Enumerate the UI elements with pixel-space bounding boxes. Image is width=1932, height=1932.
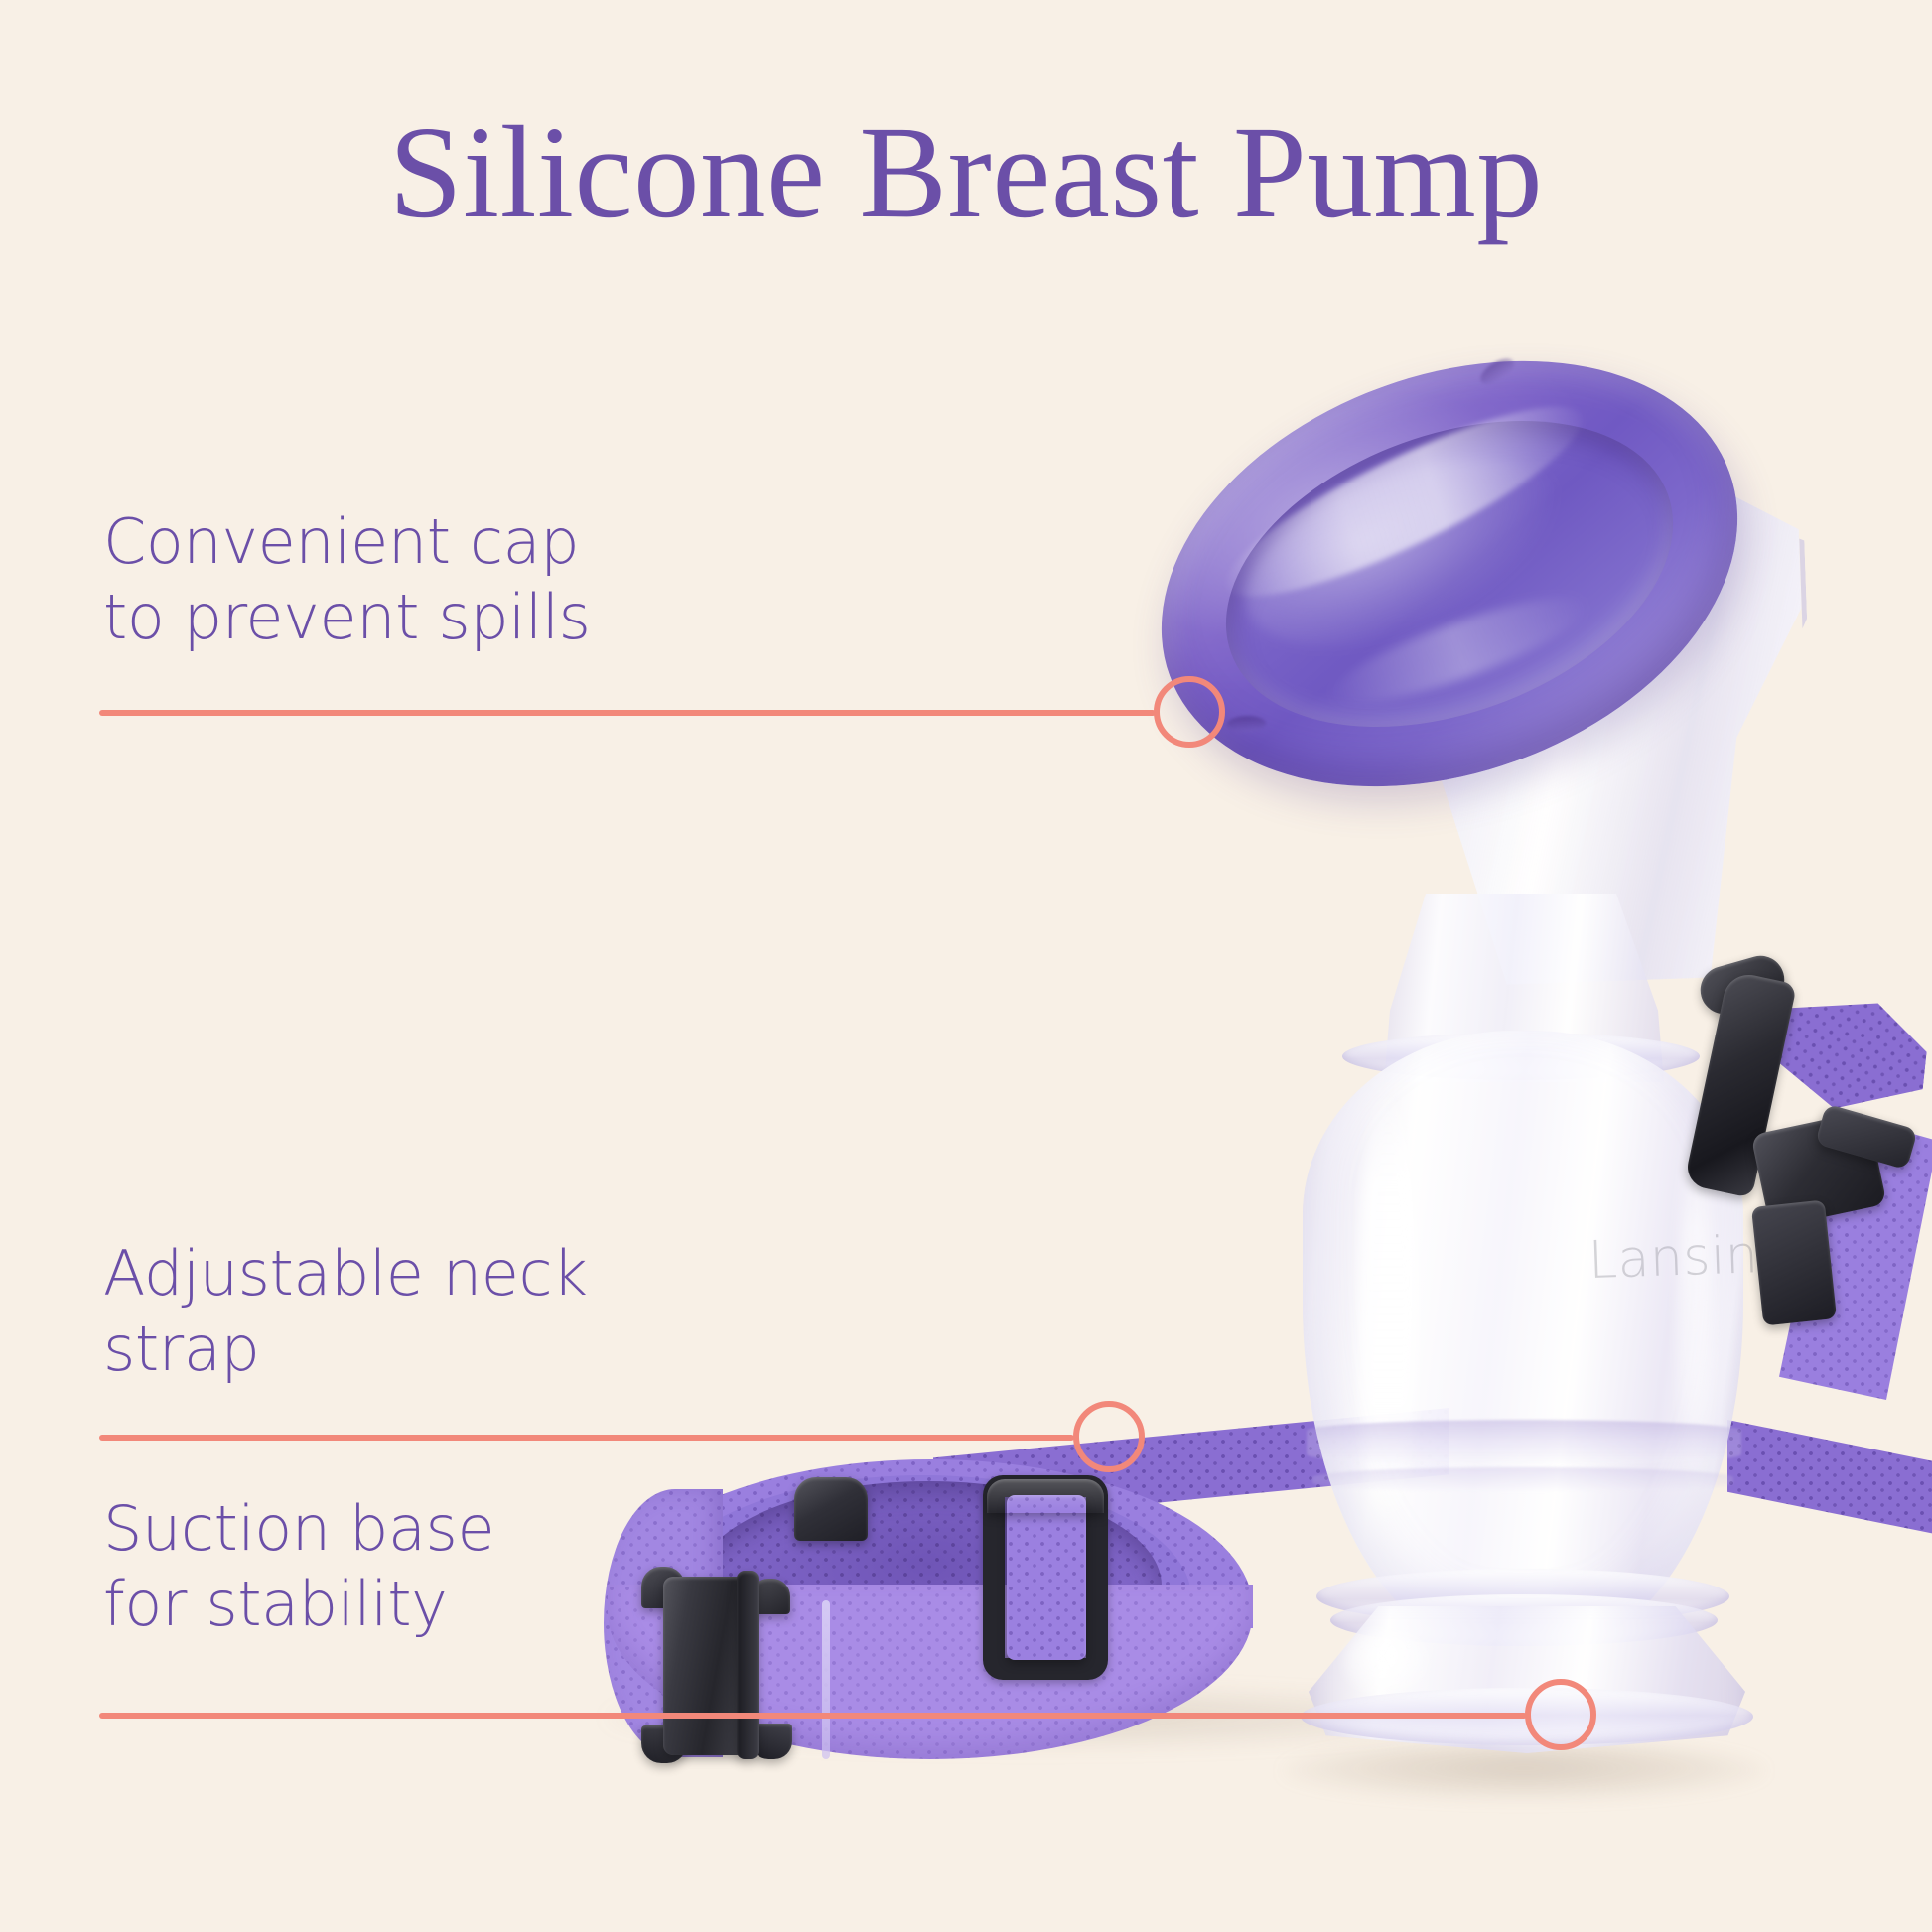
strap-coil-cavity-texture	[695, 1481, 1162, 1690]
pump-neck	[1372, 894, 1670, 1082]
callout-marker-convenient-cap	[1154, 676, 1225, 748]
suction-base	[1309, 1606, 1745, 1753]
neck-clip-top	[1695, 950, 1790, 1020]
neck-strap-buckle-lower	[1751, 1199, 1837, 1325]
body-ring-2	[1330, 1594, 1718, 1646]
strap-coil-front-face	[608, 1585, 1253, 1759]
neck-strap-buckle	[1750, 1111, 1886, 1229]
strap-through-keeper	[1007, 1495, 1086, 1660]
callout-leader-line-suction-base	[99, 1713, 1527, 1719]
pump-funnel-edge	[1299, 418, 1819, 991]
pump-neck-band	[1342, 1033, 1700, 1080]
cap-highlight-primary	[1208, 376, 1599, 627]
body-graduation-band	[1307, 1420, 1741, 1465]
callout-marker-suction-base	[1525, 1679, 1596, 1750]
strap-tab-upper	[794, 1477, 868, 1541]
callout-leader-line-convenient-cap	[99, 710, 1156, 716]
callout-label-adjustable-neck-strap: Adjustable neck strap	[103, 1236, 588, 1386]
strap-segment-left-band	[933, 1408, 1449, 1527]
strap-seam	[822, 1600, 830, 1759]
pump-body	[1303, 1031, 1743, 1646]
product-image: Lansinoh	[0, 0, 1932, 1932]
body-ring-1	[1316, 1569, 1729, 1624]
base-floor-shadow	[1281, 1742, 1767, 1800]
strap-keeper-highlight	[987, 1479, 1104, 1513]
body-highlight-left	[1358, 1082, 1418, 1549]
callout-leader-line-adjustable-neck-strap	[99, 1435, 1074, 1441]
neck-strap-buckle-arm	[1815, 1104, 1918, 1171]
buckle-hook-upper-left	[641, 1567, 685, 1608]
strap-coil-top	[608, 1459, 1253, 1628]
brand-emboss: Lansinoh	[1587, 1223, 1825, 1291]
cap-highlight-secondary	[1320, 578, 1597, 724]
strap-slider-buckle	[663, 1577, 749, 1755]
strap-coil-top-inner	[655, 1475, 1191, 1614]
buckle-hook-lower-right	[751, 1724, 792, 1759]
strap-coil-cavity	[695, 1481, 1162, 1690]
strap-segment-right-band	[1727, 1420, 1932, 1549]
callout-label-suction-base: Suction base for stability	[103, 1491, 494, 1641]
pump-cap	[1102, 285, 1798, 862]
strap-coil-top-inner-2	[695, 1487, 1162, 1606]
body-highlight-right	[1678, 1112, 1712, 1509]
callout-label-convenient-cap: Convenient cap to prevent spills	[103, 504, 591, 654]
strap-keeper-loop	[983, 1475, 1108, 1680]
neck-clip	[1684, 970, 1797, 1198]
cap-outer-disc	[1102, 285, 1798, 862]
callout-marker-adjustable-neck-strap	[1073, 1401, 1145, 1472]
suction-base-highlight	[1342, 1628, 1432, 1698]
cap-lip-notch-lower	[1226, 715, 1267, 732]
cap-inner-rim	[1183, 363, 1716, 783]
infographic-canvas: Lansinoh Silicone Breast Pump	[0, 0, 1932, 1932]
cap-lip-notch-upper	[1476, 354, 1518, 389]
page-title: Silicone Breast Pump	[0, 103, 1932, 242]
strap-slider-buckle-edge	[737, 1571, 759, 1759]
body-graduation-band-2	[1312, 1467, 1733, 1493]
strap-segment-neck	[1772, 993, 1932, 1117]
strap-segment-right-descending	[1747, 1112, 1932, 1400]
cap-inner-glow	[1220, 421, 1587, 684]
pump-funnel	[1299, 418, 1814, 991]
buckle-hook-upper-right	[751, 1579, 790, 1614]
buckle-hook-lower-left	[641, 1725, 687, 1763]
